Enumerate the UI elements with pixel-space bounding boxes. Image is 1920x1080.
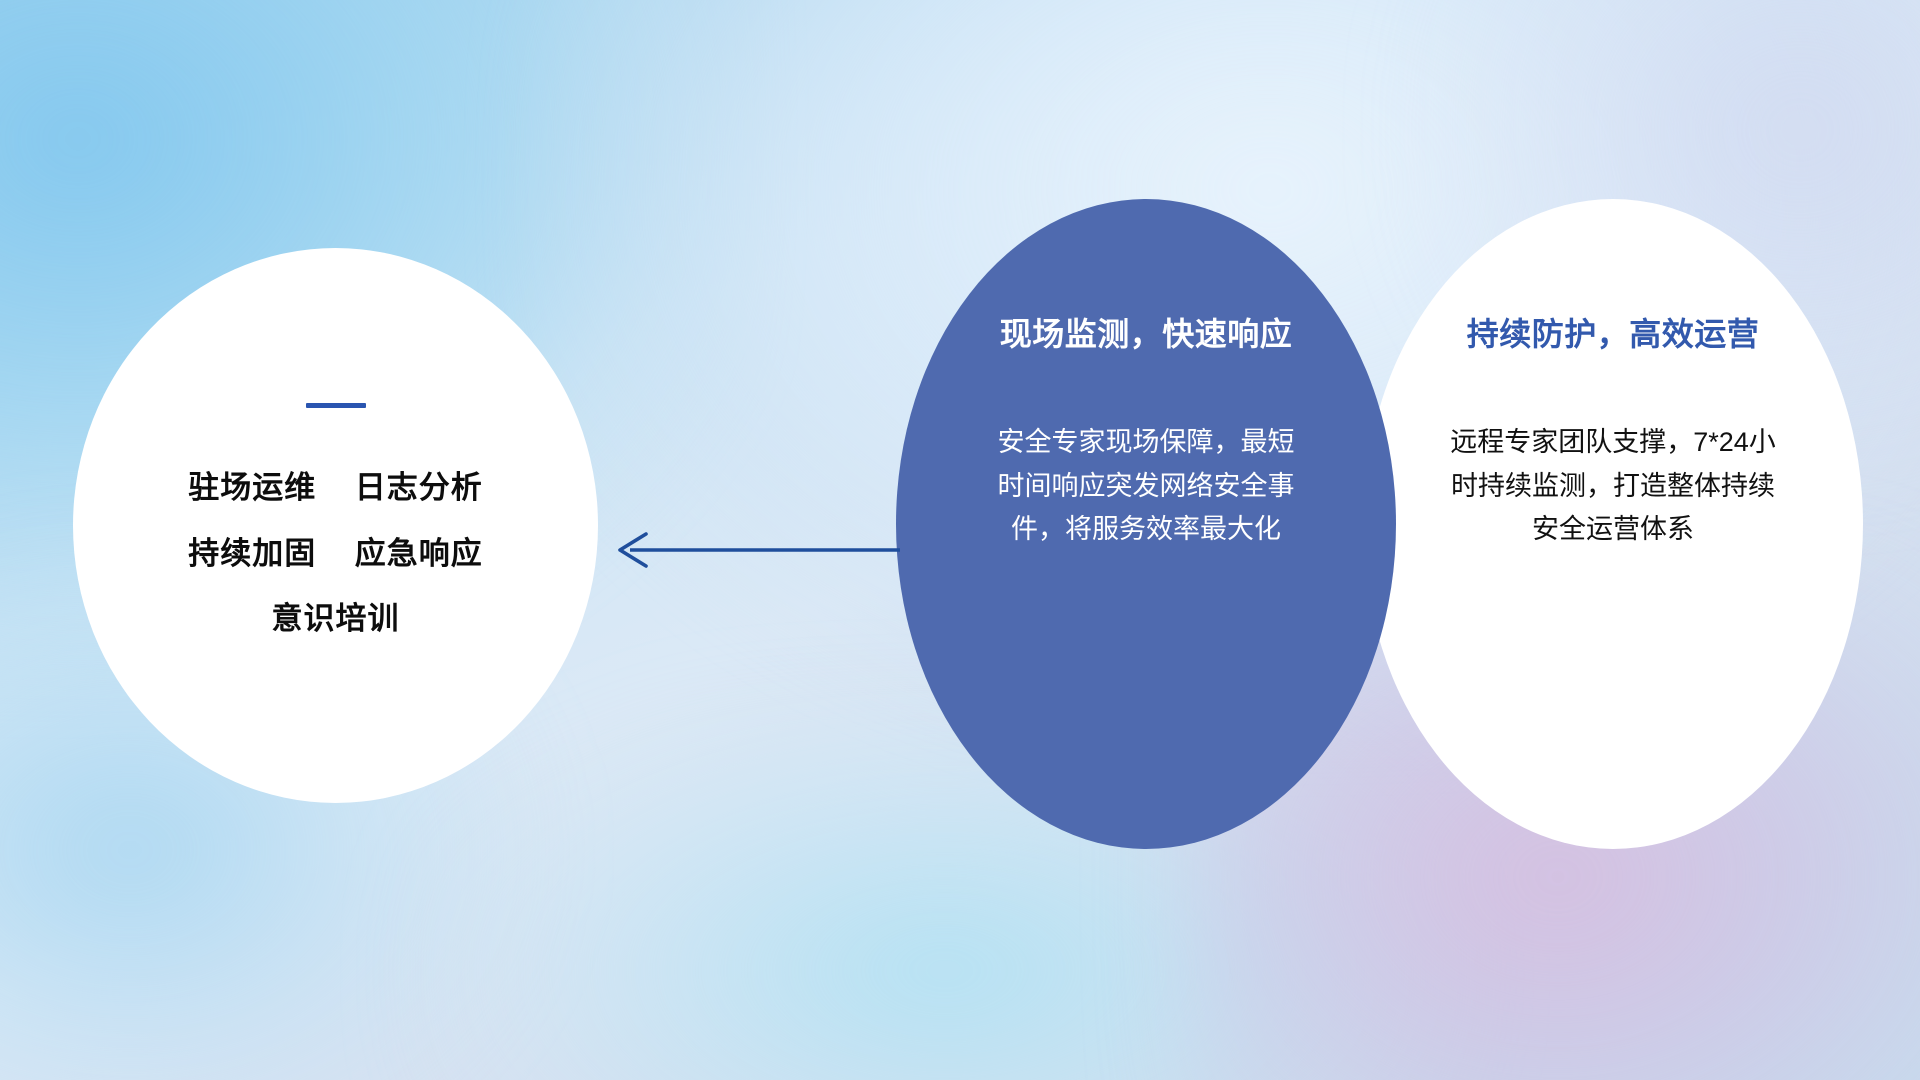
onsite-monitoring-title: 现场监测，快速响应 [1000,315,1293,353]
onsite-monitoring-body: 安全专家现场保障，最短时间响应突发网络安全事件，将服务效率最大化 [990,421,1302,551]
slide-canvas: 驻场运维 日志分析 持续加固 应急响应 意识培训 现场监测，快速响应 安全专家现… [0,0,1920,1080]
onsite-monitoring-circle[interactable]: 现场监测，快速响应 安全专家现场保障，最短时间响应突发网络安全事件，将服务效率最… [896,199,1396,849]
keyword-row: 持续加固 应急响应 [106,538,566,571]
keywords-content: 驻场运维 日志分析 持续加固 应急响应 意识培训 [106,403,566,636]
continuous-protection-circle[interactable]: 持续防护，高效运营 远程专家团队支撑，7*24小时持续监测，打造整体持续安全运营… [1363,199,1863,849]
accent-dash-icon [306,403,366,408]
keywords-circle[interactable]: 驻场运维 日志分析 持续加固 应急响应 意识培训 [73,248,598,803]
continuous-protection-body: 远程专家团队支撑，7*24小时持续监测，打造整体持续安全运营体系 [1448,421,1778,551]
continuous-protection-title: 持续防护，高效运营 [1467,315,1760,353]
keyword-row: 驻场运维 日志分析 [106,472,566,505]
keyword-row: 意识培训 [106,603,566,636]
